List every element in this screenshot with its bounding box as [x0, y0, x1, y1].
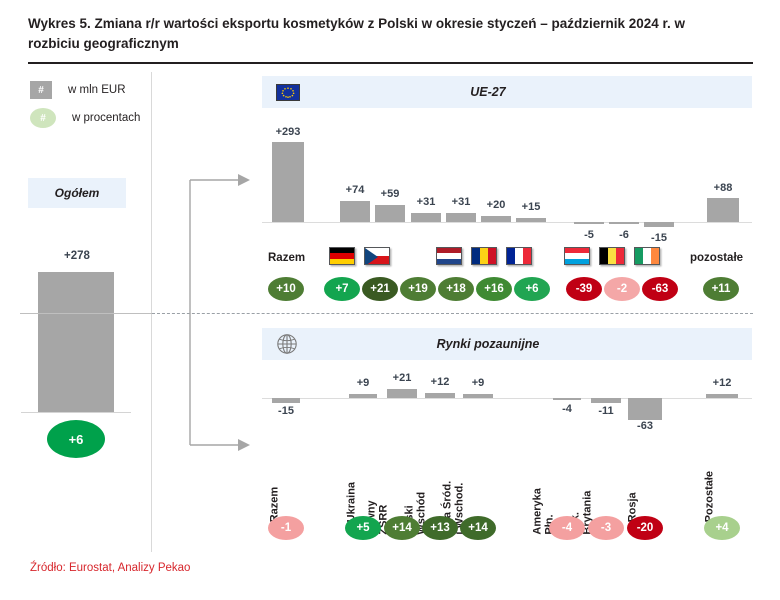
legend-item-percent: # w procentach	[30, 104, 180, 132]
legend-square-swatch: #	[30, 81, 52, 99]
pct-ue-extra: +6	[514, 277, 550, 301]
bar-ue-francja	[481, 216, 511, 222]
pct-pz-pozostale: +4	[704, 516, 740, 540]
legend-oval-swatch: #	[30, 108, 56, 128]
overall-header: Ogółem	[28, 178, 126, 208]
bar-pz-bliski	[425, 393, 455, 398]
panel-header-ue27: UE-27	[262, 76, 752, 108]
bar-ue-extra	[516, 218, 546, 222]
flag-netherlands	[436, 247, 462, 265]
pct-pz-zsrr: +14	[384, 516, 420, 540]
overall-value-label: +278	[28, 250, 126, 262]
pct-pz-bliski: +13	[422, 516, 458, 540]
connector-arrows	[150, 170, 260, 460]
pct-ue-holandia: +19	[400, 277, 436, 301]
bar-pz-ukraina	[349, 394, 377, 398]
flag-romania	[471, 247, 497, 265]
bar-ue-pozostale	[707, 198, 739, 222]
vlabel-pz-pozostale: Pozostałe	[704, 471, 716, 522]
chart-canvas: Wykres 5. Zmiana r/r wartości eksportu k…	[0, 0, 780, 600]
bar-ue-holandia	[411, 213, 441, 222]
bar-label-ue-irlandia: -15	[629, 232, 689, 244]
bar-ue-rumunia	[446, 213, 476, 222]
pct-ue-pozostale: +11	[703, 277, 739, 301]
panel-title-pozaunijne: Rynki pozaunijne	[304, 337, 672, 351]
globe-icon	[276, 334, 304, 354]
source-note: Źródło: Eurostat, Analizy Pekao	[30, 562, 190, 574]
bar-pz-razem	[272, 398, 300, 403]
pct-pz-brytania: -3	[588, 516, 624, 540]
bar-label-ue-razem: +293	[258, 126, 318, 138]
pct-pz-rosja: -20	[627, 516, 663, 540]
bar-ue-niemcy	[340, 201, 370, 222]
flag-belgium	[599, 247, 625, 265]
bar-label-pz-brytania: -11	[576, 405, 636, 417]
ue-chart-baseline	[262, 222, 752, 223]
pct-pz-azja: +14	[460, 516, 496, 540]
row-label-pozostale-ue: pozostałe	[690, 252, 743, 264]
panel-header-pozaunijne: Rynki pozaunijne	[262, 328, 752, 360]
bar-label-pz-razem: -15	[256, 405, 316, 417]
flag-france	[506, 247, 532, 265]
pct-pz-ameryka: -4	[549, 516, 585, 540]
bar-label-ue-pozostale: +88	[693, 182, 753, 194]
overall-bar	[38, 272, 114, 412]
panel-title-ue27: UE-27	[304, 85, 672, 99]
bar-label-pz-pozostale: +12	[692, 377, 752, 389]
bar-label-pz-azja: +9	[448, 377, 508, 389]
bar-label-ue-extra: +15	[501, 201, 561, 213]
left-horizontal-divider	[20, 313, 152, 314]
bar-ue-belgia	[609, 222, 639, 224]
legend: # w mln EUR # w procentach	[30, 76, 180, 132]
bar-label-pz-rosja: -63	[615, 420, 675, 432]
pct-ue-francja: +16	[476, 277, 512, 301]
page-title: Wykres 5. Zmiana r/r wartości eksportu k…	[28, 14, 728, 53]
pct-pz-razem: -1	[268, 516, 304, 540]
flag-germany	[329, 247, 355, 265]
legend-label-mln-eur: w mln EUR	[68, 84, 126, 96]
row-label-razem-ue: Razem	[268, 252, 305, 264]
pct-pz-ukraina: +5	[345, 516, 381, 540]
title-divider	[28, 62, 753, 64]
pct-ue-belgia: -2	[604, 277, 640, 301]
pct-ue-niemcy: +7	[324, 277, 360, 301]
flag-ireland	[634, 247, 660, 265]
legend-label-percent: w procentach	[72, 112, 140, 124]
pct-ue-czechy: +21	[362, 277, 398, 301]
pct-ue-luksemburg: -39	[566, 277, 602, 301]
overall-percent-badge: +6	[47, 420, 105, 458]
bar-pz-zsrr	[387, 389, 417, 398]
flag-czechia	[364, 247, 390, 265]
bar-ue-luksemburg	[574, 222, 604, 224]
pz-chart-baseline	[262, 398, 752, 399]
bar-pz-azja	[463, 394, 493, 398]
bar-pz-pozostale	[706, 394, 738, 398]
overall-baseline	[21, 412, 131, 413]
pct-ue-rumunia: +18	[438, 277, 474, 301]
eu-flag-icon	[276, 82, 304, 102]
bar-pz-ameryka	[553, 398, 581, 400]
bar-ue-irlandia	[644, 222, 674, 227]
pct-ue-irlandia: -63	[642, 277, 678, 301]
bar-ue-razem	[272, 142, 304, 222]
pct-ue-razem: +10	[268, 277, 304, 301]
flag-luxembourg	[564, 247, 590, 265]
legend-item-mln-eur: # w mln EUR	[30, 76, 180, 104]
